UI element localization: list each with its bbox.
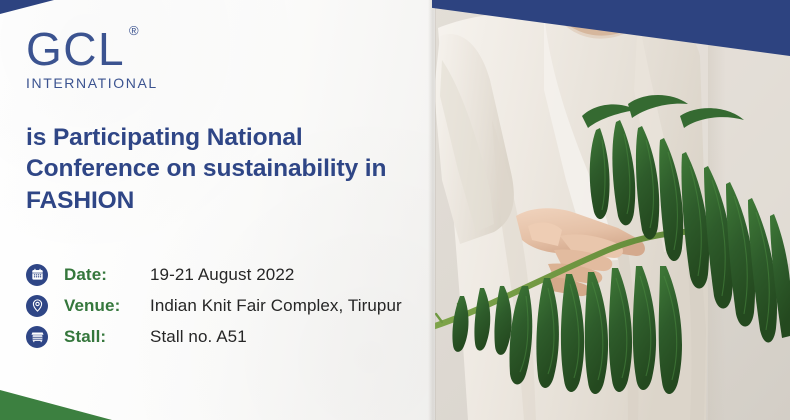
detail-value-date: 19-21 August 2022	[150, 265, 426, 285]
registered-trademark-icon: ®	[129, 24, 140, 37]
event-details-list: Date: 19-21 August 2022 Venue: Indian Kn…	[26, 259, 426, 352]
logo-wordmark: GCL®	[26, 26, 125, 72]
location-pin-icon	[26, 295, 48, 317]
brand-logo[interactable]: GCL® INTERNATIONAL	[26, 26, 158, 90]
detail-label-venue: Venue:	[64, 296, 150, 316]
stall-booth-icon	[26, 326, 48, 348]
hero-photo	[432, 0, 790, 420]
detail-value-venue: Indian Knit Fair Complex, Tirupur	[150, 296, 426, 316]
calendar-icon	[26, 264, 48, 286]
detail-label-date: Date:	[64, 265, 150, 285]
event-banner: GCL® INTERNATIONAL is Participating Nati…	[0, 0, 790, 420]
detail-label-stall: Stall:	[64, 327, 150, 347]
detail-row-stall: Stall: Stall no. A51	[26, 321, 426, 352]
detail-row-venue: Venue: Indian Knit Fair Complex, Tirupur	[26, 290, 426, 321]
headline-text: is Participating National Conference on …	[26, 122, 426, 216]
hero-photo-illustration	[432, 0, 790, 420]
logo-subtitle: INTERNATIONAL	[26, 76, 158, 90]
detail-row-date: Date: 19-21 August 2022	[26, 259, 426, 290]
detail-value-stall: Stall no. A51	[150, 327, 426, 347]
logo-gcl-text: GCL	[26, 23, 125, 75]
